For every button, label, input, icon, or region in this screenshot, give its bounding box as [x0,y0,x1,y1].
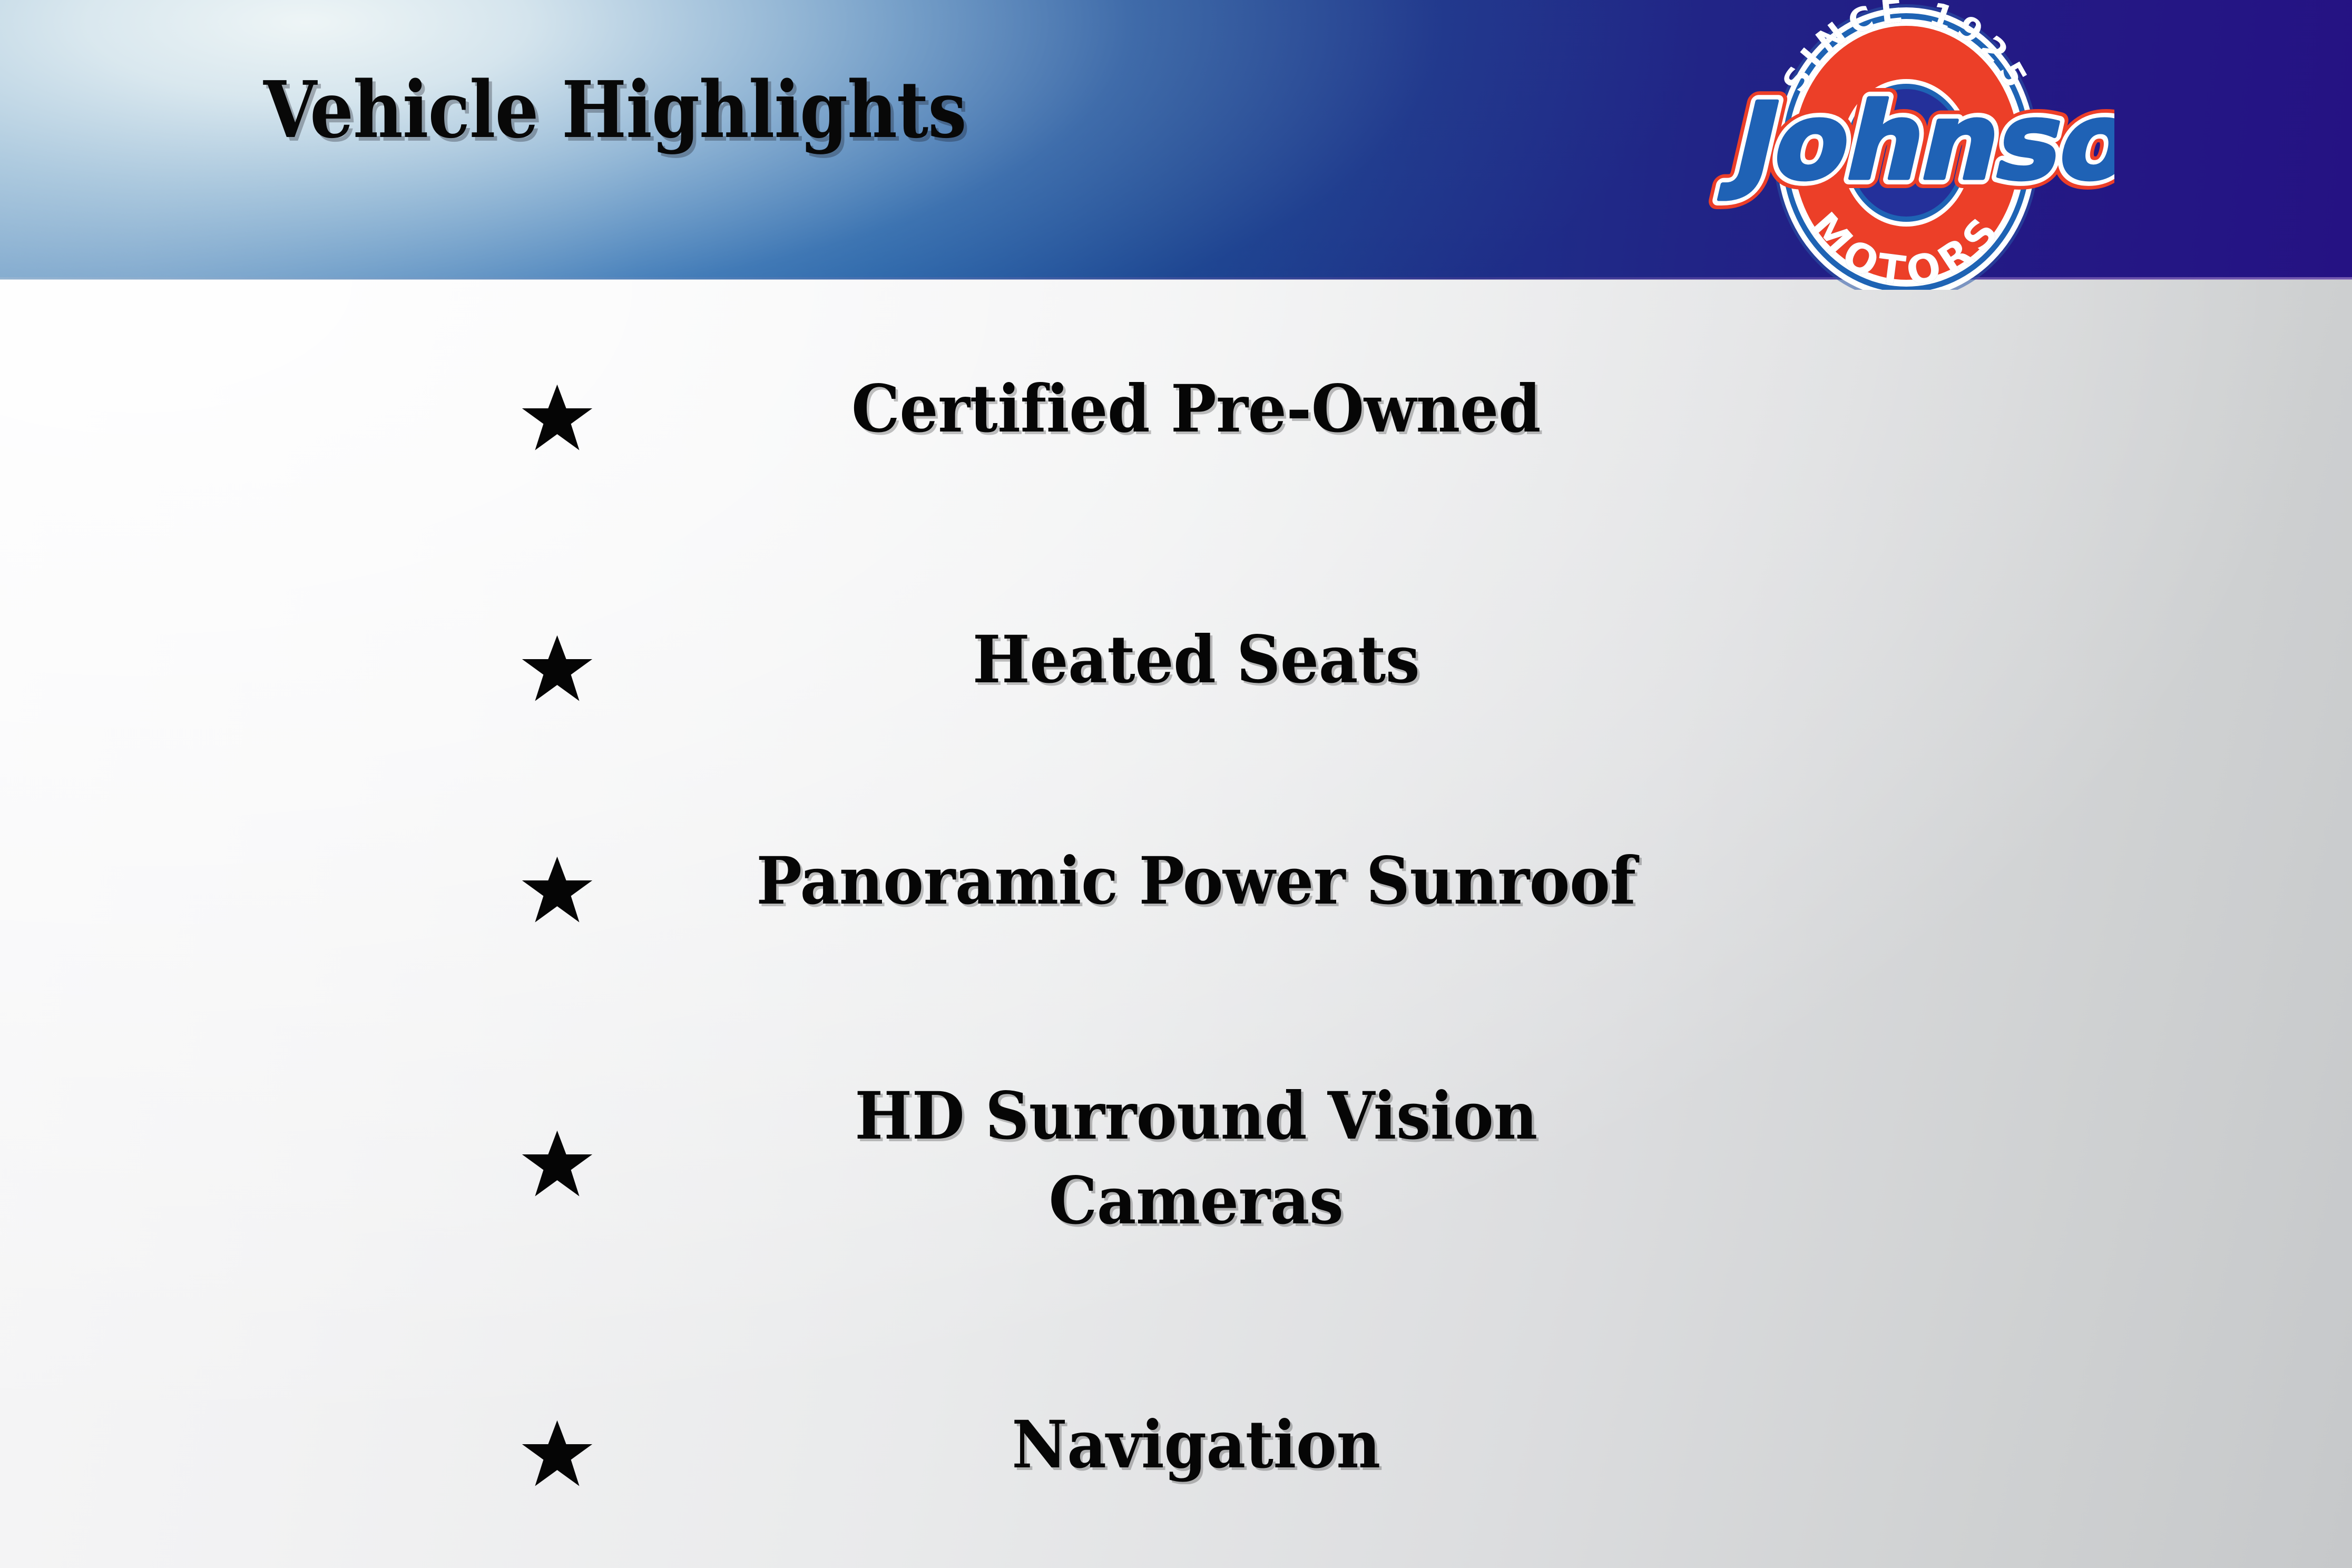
highlight-label: Panoramic Power Sunroof [716,839,1677,924]
slide-canvas: Vehicle Highlights SINC [0,0,2352,1568]
star-icon [519,632,595,709]
star-icon [519,1417,595,1494]
star-icon [519,381,595,458]
highlights-list: Certified Pre-Owned Heated Seats Panoram… [0,279,2352,1568]
highlight-label: Certified Pre-Owned [716,367,1677,452]
highlight-label: Heated Seats [716,618,1677,702]
johnson-motors-logo: SINCE 1925 SINCE 1925 MOTORS MOTORS John… [1698,0,2114,290]
star-icon [519,1128,595,1204]
svg-text:Johnson: Johnson [1718,80,2114,203]
highlight-label: HD Surround Vision Cameras [814,1074,1579,1243]
logo-wordmark: Johnson Johnson Johnson [1718,80,2114,203]
highlight-label: Navigation [716,1403,1677,1487]
page-title: Vehicle Highlights [263,71,966,149]
star-icon [519,854,595,930]
